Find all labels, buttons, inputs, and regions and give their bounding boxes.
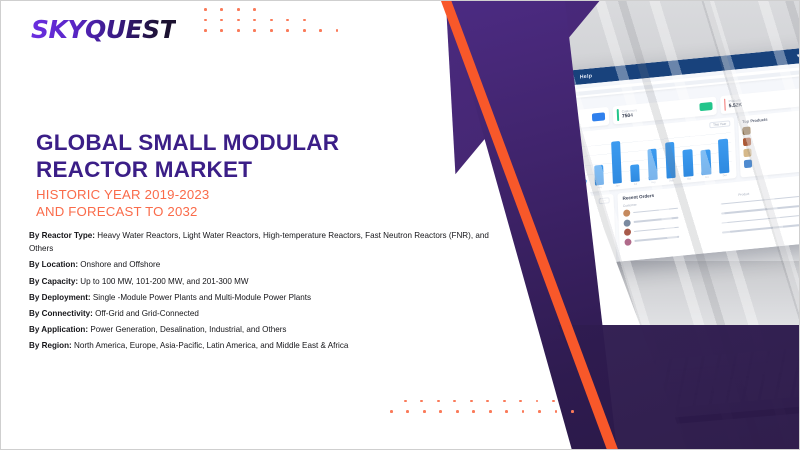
segment-region: By Region: North America, Europe, Asia-P… [29, 339, 514, 352]
dot [439, 410, 442, 413]
bar-column[interactable]: Mar [554, 144, 571, 193]
donut-chart [536, 207, 590, 264]
dot [237, 8, 240, 11]
menu-item-edit[interactable]: Edit [475, 81, 494, 91]
dot [519, 400, 522, 403]
menu-item-window[interactable]: Window [547, 75, 569, 83]
segment-label: By Deployment: [29, 293, 91, 302]
bar-column[interactable]: Feb [536, 146, 553, 195]
segment-value: Off-Grid and Grid-Connected [95, 309, 199, 318]
report-period: HISTORIC YEAR 2019-2023 AND FORECAST TO … [36, 187, 456, 220]
dot [538, 410, 541, 413]
recent-orders-card: Recent Orders Customer Product [617, 173, 799, 264]
bar-column[interactable]: Sep [662, 133, 679, 182]
dot [237, 29, 240, 32]
bar-column[interactable]: Apr [572, 142, 589, 191]
y-tick: 40 [512, 161, 515, 164]
product-photo-panel: File Edit View Go Window Help ▾ 100% WEB… [379, 1, 799, 450]
bar-column[interactable]: Nov [697, 130, 714, 179]
stat-text: Sales $52,000 [515, 112, 593, 129]
apple-logo-icon [436, 87, 443, 95]
dot [253, 8, 256, 11]
dot-pattern-top [204, 8, 338, 40]
office-desk-photo: File Edit View Go Window Help ▾ 100% WEB… [379, 1, 799, 450]
dot [253, 29, 256, 32]
bar [523, 182, 533, 193]
segment-capacity: By Capacity: Up to 100 MW, 101-200 MW, a… [29, 275, 514, 288]
dot [319, 29, 322, 32]
bar-column[interactable]: Jun [608, 139, 625, 188]
segment-value: Up to 100 MW, 101-200 MW, and 201-300 MW [80, 277, 248, 286]
bar [558, 165, 569, 189]
x-tick: Aug [651, 181, 655, 184]
bar [576, 179, 586, 187]
segment-label: By Connectivity: [29, 309, 93, 318]
dot [220, 8, 223, 11]
dot [303, 29, 306, 32]
x-tick: Feb [544, 191, 548, 194]
report-cover: File Edit View Go Window Help ▾ 100% WEB… [0, 0, 800, 450]
dot [390, 410, 393, 413]
product-text [754, 124, 799, 130]
dashboard-brand: WEBIX [434, 102, 496, 115]
dot [220, 29, 223, 32]
segment-connectivity: By Connectivity: Off-Grid and Grid-Conne… [29, 307, 514, 320]
stat-badge-icon [592, 112, 605, 121]
dot-row [390, 410, 574, 413]
bar-column[interactable]: Oct [679, 132, 696, 181]
donut-title: Revenue Share [514, 204, 543, 212]
bar [665, 141, 676, 178]
menu-item-go[interactable]: Go [528, 78, 536, 85]
dot-row [404, 400, 574, 403]
product-thumbnail [744, 159, 752, 168]
segment-label: By Location: [29, 260, 78, 269]
accent-bar [510, 119, 512, 131]
x-tick: Dec [723, 174, 727, 177]
bar-column[interactable]: Jul [626, 137, 643, 186]
segment-value: North America, Europe, Asia-Pacific, Lat… [74, 341, 348, 350]
bar [540, 162, 551, 191]
dot-pattern-bottom [404, 400, 574, 421]
product-thumbnail [743, 148, 751, 157]
segment-location: By Location: Onshore and Offshore [29, 258, 514, 271]
x-tick: Jun [616, 184, 620, 187]
x-tick: Sep [669, 179, 673, 182]
sidebar-item-label: Dashboard [446, 121, 469, 128]
chart-range-select[interactable]: This Year [709, 120, 730, 128]
donut-legend: Direct Affiliate Sponsored [517, 259, 613, 271]
bar [630, 164, 641, 182]
menubar-status: ▾ 100% [797, 51, 799, 60]
dot [270, 29, 273, 32]
dot [486, 400, 489, 403]
y-tick: 20 [513, 173, 516, 176]
product-text [754, 146, 799, 152]
avatar [624, 238, 631, 246]
bar [611, 141, 623, 184]
dot [552, 400, 555, 403]
dot [204, 8, 207, 11]
dot [456, 410, 459, 413]
y-tick: 0 [513, 185, 514, 188]
product-text [754, 135, 799, 141]
dot-row [204, 29, 338, 32]
stat-value: $52,000 [515, 116, 593, 129]
segment-label: By Application: [29, 325, 88, 334]
ellipsis-icon[interactable]: ⋯ [598, 197, 609, 204]
product-text [755, 157, 799, 163]
dot [423, 410, 426, 413]
segment-label: By Region: [29, 341, 72, 350]
bar [701, 149, 712, 175]
avatar [623, 209, 630, 217]
x-tick: Apr [580, 188, 584, 191]
product-thumbnail [743, 137, 751, 146]
menu-item-file[interactable]: File [454, 85, 464, 92]
legend-label: Direct [544, 265, 551, 269]
dot [270, 19, 273, 22]
column-header-product: Product [738, 192, 749, 197]
menu-item-help[interactable]: Help [580, 73, 593, 80]
segment-label: By Reactor Type: [29, 231, 95, 240]
stat-badge-icon [699, 102, 712, 111]
bar [594, 165, 605, 186]
historic-year-label: HISTORIC YEAR 2019-2023 [36, 187, 456, 204]
dot [453, 400, 456, 403]
dot [286, 29, 289, 32]
avatar [624, 229, 631, 237]
dot [404, 400, 407, 403]
legend-item: Direct [540, 265, 551, 269]
dot [437, 400, 440, 403]
monitor-base [453, 363, 589, 393]
donut-header: Revenue Share ⋯ [514, 197, 610, 212]
accent-bar [724, 99, 726, 111]
dot [505, 410, 508, 413]
dot [571, 410, 574, 413]
bar [647, 149, 658, 181]
segment-label: By Capacity: [29, 277, 78, 286]
bar [718, 139, 729, 174]
y-axis: 60 40 20 0 [511, 149, 520, 192]
dot [237, 19, 240, 22]
legend-label: Sponsored [577, 261, 590, 265]
dot-row [204, 19, 338, 22]
top-products-card: Top Products [738, 108, 799, 177]
dot [472, 410, 475, 413]
dot [204, 29, 207, 32]
legend-item: Sponsored [573, 261, 590, 266]
dashboard-main: Home Dashboard Sales $52,000 [500, 61, 799, 273]
segment-application: By Application: Power Generation, Desali… [29, 323, 514, 336]
product-thumbnail [742, 126, 750, 135]
stat-text: Products 5.52K [728, 92, 799, 109]
bar-column[interactable]: May [590, 140, 607, 189]
segment-value: Single -Module Power Plants and Multi-Mo… [93, 293, 311, 302]
x-tick: Jul [634, 183, 637, 186]
dot [555, 410, 558, 413]
x-tick: May [597, 186, 602, 189]
x-tick: Nov [705, 176, 709, 179]
legend-item: Affiliate [555, 264, 568, 268]
bar-column[interactable]: Aug [644, 135, 661, 184]
revenue-donut-card: Revenue Share ⋯ Direct Affiliate Sponsor… [510, 194, 617, 272]
lower-row: Revenue Share ⋯ Direct Affiliate Sponsor… [510, 173, 799, 272]
x-tick: Jan [526, 193, 530, 196]
bar [683, 149, 694, 177]
dot [253, 19, 256, 22]
accent-bar [617, 109, 619, 121]
y-tick: 60 [511, 149, 514, 152]
dot-row [204, 8, 338, 11]
dot [406, 410, 409, 413]
forecast-year-label: AND FORECAST TO 2032 [36, 204, 456, 221]
bar-column[interactable]: Jan [518, 147, 535, 196]
skyquest-logo[interactable]: SKYQUEST [31, 15, 176, 44]
segmentation-list: By Reactor Type: Heavy Water Reactors, L… [29, 229, 514, 356]
page-title: GLOBAL SMALL MODULAR REACTOR MARKET [36, 129, 456, 184]
dot [503, 400, 506, 403]
chart-title: Sales [511, 141, 522, 147]
segment-reactor-type: By Reactor Type: Heavy Water Reactors, L… [29, 229, 514, 255]
dot [220, 19, 223, 22]
dot [336, 29, 339, 32]
bar-column[interactable]: Dec [715, 128, 732, 177]
segment-deployment: By Deployment: Single -Module Power Plan… [29, 291, 514, 304]
dot [286, 19, 289, 22]
dot [536, 400, 539, 403]
dot [204, 19, 207, 22]
avatar [623, 219, 630, 227]
stat-text: Customers 7504 [622, 102, 700, 119]
dot [489, 410, 492, 413]
menu-item-view[interactable]: View [505, 80, 518, 87]
dot [522, 410, 525, 413]
segment-value: Onshore and Offshore [80, 260, 160, 269]
segment-value: Power Generation, Desalination, Industri… [90, 325, 286, 334]
wifi-icon: ▾ [797, 52, 799, 59]
x-tick: Mar [562, 189, 566, 192]
dot [470, 400, 473, 403]
dot [303, 19, 306, 22]
legend-label: Affiliate [559, 264, 568, 268]
breadcrumb: Home [509, 96, 520, 102]
segment-value: Heavy Water Reactors, Light Water Reacto… [29, 231, 489, 253]
dot [420, 400, 423, 403]
x-tick: Oct [687, 177, 691, 180]
